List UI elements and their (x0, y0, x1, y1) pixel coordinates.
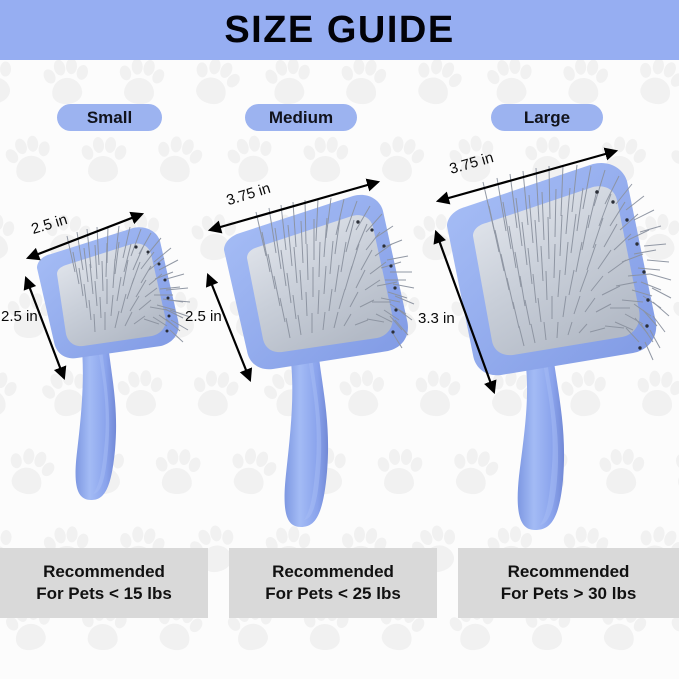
header-bar: SIZE GUIDE (0, 0, 679, 60)
size-badge-medium: Medium (245, 104, 357, 131)
paw-print-icon (81, 136, 125, 186)
paw-print-icon (484, 55, 535, 111)
paw-print-icon (116, 56, 165, 110)
page-title: SIZE GUIDE (224, 9, 454, 52)
paw-print-icon (630, 53, 679, 114)
paw-print-icon (185, 52, 243, 114)
dimension-arrow-medium-height (202, 265, 264, 390)
recommendation-medium-line1: Recommended (272, 561, 394, 583)
dimension-label-medium-height: 2.5 in (185, 308, 222, 325)
recommendation-small-line2: For Pets < 15 lbs (36, 583, 172, 605)
dimension-label-small-height: 2.5 in (1, 308, 38, 325)
size-badge-large: Large (491, 104, 603, 131)
paw-print-icon (407, 52, 464, 113)
paw-print-icon (150, 132, 204, 191)
paw-print-icon (2, 132, 56, 191)
paw-print-icon (0, 52, 21, 114)
paw-print-icon (560, 57, 607, 110)
recommendation-box-large: Recommended For Pets > 30 lbs (458, 548, 679, 618)
recommendation-box-medium: Recommended For Pets < 25 lbs (229, 548, 437, 618)
dimension-label-large-height: 3.3 in (418, 310, 455, 327)
dimension-arrow-small-height (20, 268, 78, 388)
paw-print-icon (263, 55, 314, 111)
recommendation-medium-line2: For Pets < 25 lbs (265, 583, 401, 605)
size-badge-small: Small (57, 104, 162, 131)
recommendation-small-line1: Recommended (43, 561, 165, 583)
recommendation-box-small: Recommended For Pets < 15 lbs (0, 548, 208, 618)
recommendation-large-line2: For Pets > 30 lbs (501, 583, 637, 605)
size-badge-small-label: Small (87, 108, 132, 128)
size-badge-large-label: Large (524, 108, 570, 128)
paw-print-icon (41, 56, 91, 111)
size-guide-page: SIZE GUIDE Small Medium Large (0, 0, 679, 679)
recommendation-large-line1: Recommended (508, 561, 630, 583)
size-badge-medium-label: Medium (269, 108, 333, 128)
paw-print-icon (338, 56, 386, 110)
